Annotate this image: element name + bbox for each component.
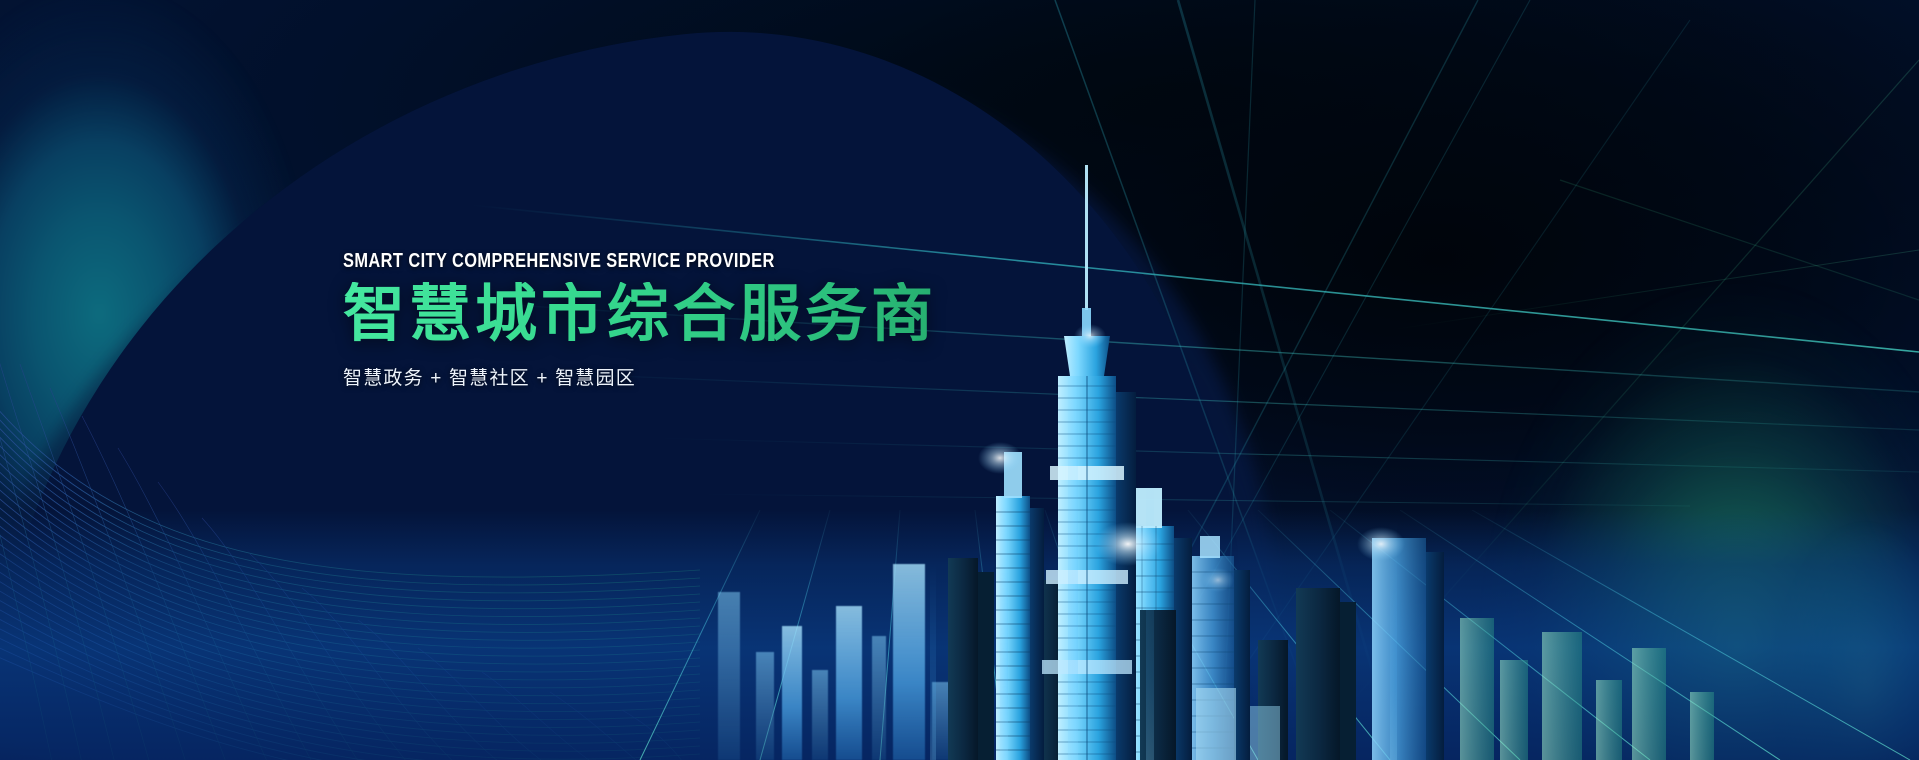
3d-city-skyline xyxy=(0,140,1919,760)
hero-banner: SMART CITY COMPREHENSIVE SERVICE PROVIDE… xyxy=(0,0,1919,760)
hero-eyebrow: SMART CITY COMPREHENSIVE SERVICE PROVIDE… xyxy=(343,250,1081,272)
hero-subtitle: 智慧政务 + 智慧社区 + 智慧园区 xyxy=(343,363,1243,390)
page-title: 智慧城市综合服务商 xyxy=(343,282,1243,349)
hero-copy: SMART CITY COMPREHENSIVE SERVICE PROVIDE… xyxy=(343,250,1243,390)
